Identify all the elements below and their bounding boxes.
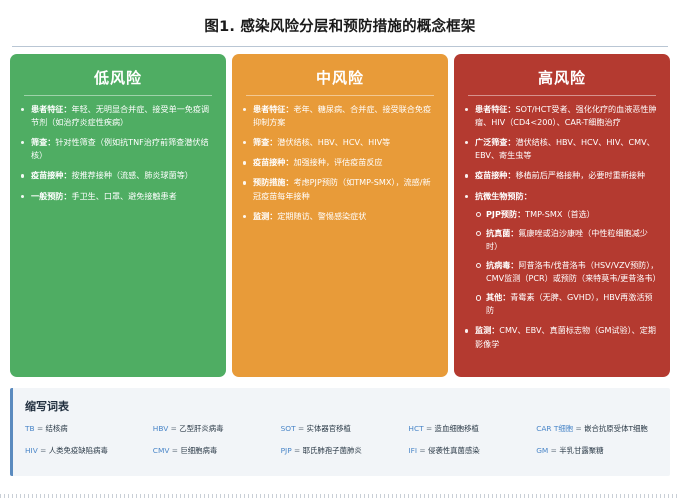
abbreviation-value: 侵袭性真菌感染 (428, 446, 480, 455)
abbreviation-entry: HBV = 乙型肝炎病毒 (153, 424, 275, 435)
list-item: 一般预防：手卫生、口罩、避免接触患者 (20, 190, 216, 203)
abbreviation-equals: = (172, 446, 178, 455)
item-text: 定期随访、警惕感染症状 (277, 211, 366, 221)
list-item: 筛查：潜伏结核、HBV、HCV、HIV等 (242, 136, 438, 149)
abbreviation-equals: = (576, 424, 582, 433)
abbreviation-equals: = (37, 424, 43, 433)
abbreviation-entry: TB = 结核病 (25, 424, 147, 435)
list-item: 疫苗接种：移植前后严格接种，必要时重新接种 (464, 169, 660, 182)
abbreviation-key: HIV (25, 446, 38, 455)
risk-column-high: 高风险 患者特征：SOT/HCT受者、强化化疗的血液恶性肿瘤、HIV（CD4<2… (454, 54, 670, 377)
abbreviation-entry: SOT = 实体器官移植 (281, 424, 403, 435)
abbreviation-equals: = (298, 424, 304, 433)
list-item: 监测：CMV、EBV、真菌标志物（GM试验）、定期影像学 (464, 324, 660, 350)
page-title: 图1. 感染风险分层和预防措施的概念框架 (10, 0, 670, 36)
abbreviation-key: PJP (281, 446, 292, 455)
item-text: 针对性筛查（例如抗TNF治疗前筛查潜伏结核） (31, 137, 209, 160)
item-label: 患者特征： (253, 104, 293, 114)
title-divider (12, 46, 668, 47)
sub-item-text: TMP-SMX（首选） (525, 209, 595, 219)
abbreviation-entry: HIV = 人类免疫缺陷病毒 (25, 446, 147, 457)
abbreviation-key: CMV (153, 446, 170, 455)
item-list-low: 患者特征：年轻、无明显合并症、接受单一免疫调节剂（如治疗炎症性疾病） 筛查：针对… (20, 103, 216, 210)
item-label: 疫苗接种： (31, 170, 71, 180)
item-label: 抗微生物预防： (475, 191, 532, 201)
list-item: 患者特征：年轻、无明显合并症、接受单一免疫调节剂（如治疗炎症性疾病） (20, 103, 216, 129)
footer-dotted-rule (0, 494, 680, 498)
abbreviation-key: SOT (281, 424, 296, 433)
item-text: 按推荐接种（流感、肺炎球菌等） (71, 170, 192, 180)
abbreviation-value: 结核病 (46, 424, 68, 433)
column-header-mid: 中风险 (242, 63, 438, 95)
item-label: 监测： (253, 211, 277, 221)
list-item: 广泛筛查：潜伏结核、HBV、HCV、HIV、CMV、EBV、寄生虫等 (464, 136, 660, 162)
abbreviation-entry: GM = 半乳甘露聚糖 (536, 446, 658, 457)
list-item: 抗微生物预防： PJP预防：TMP-SMX（首选） 抗真菌：氟康唑或泊沙康唑（中… (464, 190, 660, 318)
item-label: 疫苗接种： (475, 170, 515, 180)
sub-item-label: 其他： (486, 292, 510, 302)
abbreviation-value: 半乳甘露聚糖 (559, 446, 603, 455)
abbreviation-equals: = (40, 446, 46, 455)
risk-column-mid: 中风险 患者特征：老年、糖尿病、合并症、接受联合免疫抑制方案 筛查：潜伏结核、H… (232, 54, 448, 377)
item-text: 潜伏结核、HBV、HCV、HIV等 (277, 137, 390, 147)
abbreviation-key: HCT (408, 424, 423, 433)
list-item: 患者特征：SOT/HCT受者、强化化疗的血液恶性肿瘤、HIV（CD4<200）、… (464, 103, 660, 129)
list-item: 筛查：针对性筛查（例如抗TNF治疗前筛查潜伏结核） (20, 136, 216, 162)
abbreviation-entry: IFI = 侵袭性真菌感染 (408, 446, 530, 457)
item-label: 监测： (475, 325, 499, 335)
abbreviation-entry: CAR T细胞 = 嵌合抗原受体T细胞 (536, 424, 658, 435)
item-label: 预防措施： (253, 177, 293, 187)
item-label: 筛查： (31, 137, 55, 147)
list-item: 患者特征：老年、糖尿病、合并症、接受联合免疫抑制方案 (242, 103, 438, 129)
list-item: 监测：定期随访、警惕感染症状 (242, 210, 438, 223)
abbreviation-equals: = (419, 446, 425, 455)
abbreviation-entry: PJP = 耶氏肺孢子菌肺炎 (281, 446, 403, 457)
sub-item-list: PJP预防：TMP-SMX（首选） 抗真菌：氟康唑或泊沙康唑（中性粒细胞减少时）… (475, 208, 660, 318)
item-list-high: 患者特征：SOT/HCT受者、强化化疗的血液恶性肿瘤、HIV（CD4<200）、… (464, 103, 660, 358)
abbreviation-value: 巨细胞病毒 (180, 446, 217, 455)
column-header-divider (246, 95, 434, 96)
item-label: 筛查： (253, 137, 277, 147)
abbreviation-entry: HCT = 造血细胞移植 (408, 424, 530, 435)
item-label: 患者特征： (31, 104, 71, 114)
abbreviation-key: TB (25, 424, 35, 433)
abbreviation-equals: = (294, 446, 300, 455)
item-label: 疫苗接种： (253, 157, 293, 167)
figure-page: 图1. 感染风险分层和预防措施的概念框架 低风险 患者特征：年轻、无明显合并症、… (0, 0, 680, 500)
abbreviation-value: 耶氏肺孢子菌肺炎 (303, 446, 362, 455)
abbreviation-value: 嵌合抗原受体T细胞 (584, 424, 648, 433)
item-text: 手卫生、口罩、避免接触患者 (71, 191, 176, 201)
sub-item-text: 青霉素（无脾、GVHD），HBV再激活预防 (486, 292, 653, 315)
list-item: 疫苗接种：按推荐接种（流感、肺炎球菌等） (20, 169, 216, 182)
item-list-mid: 患者特征：老年、糖尿病、合并症、接受联合免疫抑制方案 筛查：潜伏结核、HBV、H… (242, 103, 438, 230)
abbreviation-equals: = (426, 424, 432, 433)
sub-item-label: PJP预防： (486, 209, 525, 219)
sub-list-item: 抗真菌：氟康唑或泊沙康唑（中性粒细胞减少时） (475, 227, 660, 253)
abbreviation-value: 乙型肝炎病毒 (179, 424, 223, 433)
abbreviation-key: CAR T细胞 (536, 424, 573, 433)
item-label: 广泛筛查： (475, 137, 515, 147)
list-item: 疫苗接种：加强接种，评估疫苗反应 (242, 156, 438, 169)
risk-columns: 低风险 患者特征：年轻、无明显合并症、接受单一免疫调节剂（如治疗炎症性疾病） 筛… (10, 54, 670, 377)
abbreviation-value: 人类免疫缺陷病毒 (49, 446, 108, 455)
item-label: 一般预防： (31, 191, 71, 201)
sub-item-label: 抗真菌： (486, 228, 518, 238)
abbreviation-key: IFI (408, 446, 417, 455)
abbreviation-key: HBV (153, 424, 168, 433)
item-text: CMV、EBV、真菌标志物（GM试验）、定期影像学 (475, 325, 656, 348)
column-header-divider (24, 95, 212, 96)
column-header-divider (468, 95, 656, 96)
item-text: 加强接种，评估疫苗反应 (293, 157, 382, 167)
sub-list-item: 抗病毒：阿昔洛韦/伐昔洛韦（HSV/VZV预防），CMV监测（PCR）或预防（来… (475, 259, 660, 285)
abbreviation-equals: = (171, 424, 177, 433)
abbreviation-equals: = (551, 446, 557, 455)
item-text: 移植前后严格接种，必要时重新接种 (515, 170, 645, 180)
abbreviations-grid: TB = 结核病 HBV = 乙型肝炎病毒 SOT = 实体器官移植 HCT =… (25, 424, 658, 456)
sub-item-label: 抗病毒： (486, 260, 518, 270)
abbreviations-title: 缩写词表 (25, 398, 658, 414)
risk-column-low: 低风险 患者特征：年轻、无明显合并症、接受单一免疫调节剂（如治疗炎症性疾病） 筛… (10, 54, 226, 377)
sub-list-item: PJP预防：TMP-SMX（首选） (475, 208, 660, 221)
abbreviations-panel: 缩写词表 TB = 结核病 HBV = 乙型肝炎病毒 SOT = 实体器官移植 … (10, 388, 670, 476)
list-item: 预防措施：考虑PJP预防（如TMP-SMX），流感/新冠疫苗每年接种 (242, 176, 438, 202)
abbreviation-value: 实体器官移植 (307, 424, 351, 433)
column-header-low: 低风险 (20, 63, 216, 95)
column-header-high: 高风险 (464, 63, 660, 95)
item-label: 患者特征： (475, 104, 515, 114)
sub-list-item: 其他：青霉素（无脾、GVHD），HBV再激活预防 (475, 291, 660, 317)
abbreviation-value: 造血细胞移植 (435, 424, 479, 433)
abbreviation-key: GM (536, 446, 548, 455)
abbreviation-entry: CMV = 巨细胞病毒 (153, 446, 275, 457)
